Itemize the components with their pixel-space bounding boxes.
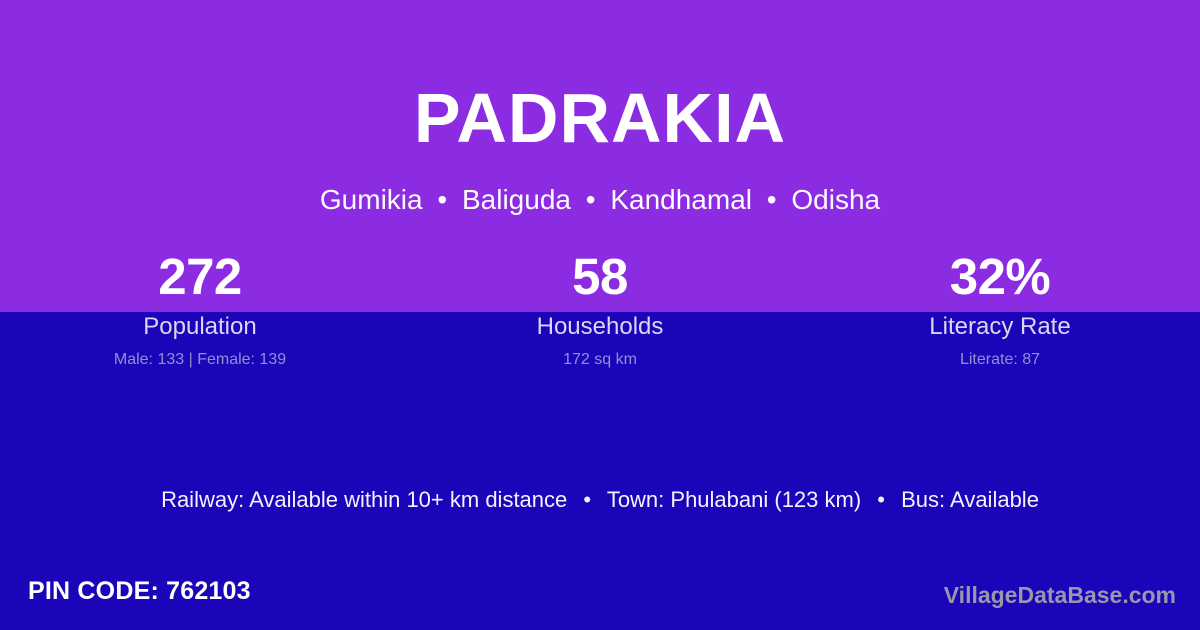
amenity-town: Town: Phulabani (123 km) (607, 487, 861, 512)
stat-sublabel: Literate: 87 (800, 349, 1200, 371)
breadcrumb-separator: • (760, 184, 784, 215)
stat-label: Households (400, 312, 800, 342)
pin-code: PIN CODE: 762103 (28, 576, 251, 606)
breadcrumb-separator: • (430, 184, 454, 215)
amenities-line: Railway: Available within 10+ km distanc… (0, 486, 1200, 514)
breadcrumb-item-block: Gumikia (320, 184, 423, 215)
breadcrumb-item-district: Kandhamal (610, 184, 752, 215)
breadcrumb-item-state: Odisha (791, 184, 880, 215)
village-info-card: PADRAKIA Gumikia • Baliguda • Kandhamal … (0, 0, 1200, 630)
stat-households: 58 Households 172 sq km (400, 246, 800, 371)
stat-value: 32% (800, 246, 1200, 308)
site-brand: VillageDataBase.com (944, 581, 1176, 609)
amenity-separator: • (573, 487, 601, 512)
breadcrumb: Gumikia • Baliguda • Kandhamal • Odisha (0, 182, 1200, 217)
amenity-bus: Bus: Available (901, 487, 1039, 512)
breadcrumb-item-subdistrict: Baliguda (462, 184, 571, 215)
breadcrumb-separator: • (579, 184, 603, 215)
stat-sublabel: 172 sq km (400, 349, 800, 371)
page-title: PADRAKIA (0, 83, 1200, 153)
stat-label: Literacy Rate (800, 312, 1200, 342)
stat-value: 58 (400, 246, 800, 308)
stat-population: 272 Population Male: 133 | Female: 139 (0, 246, 400, 371)
stat-literacy-rate: 32% Literacy Rate Literate: 87 (800, 246, 1200, 371)
stat-value: 272 (0, 246, 400, 308)
amenity-railway: Railway: Available within 10+ km distanc… (161, 487, 567, 512)
amenity-separator: • (867, 487, 895, 512)
stat-sublabel: Male: 133 | Female: 139 (0, 349, 400, 371)
stat-label: Population (0, 312, 400, 342)
stats-row: 272 Population Male: 133 | Female: 139 5… (0, 246, 1200, 371)
